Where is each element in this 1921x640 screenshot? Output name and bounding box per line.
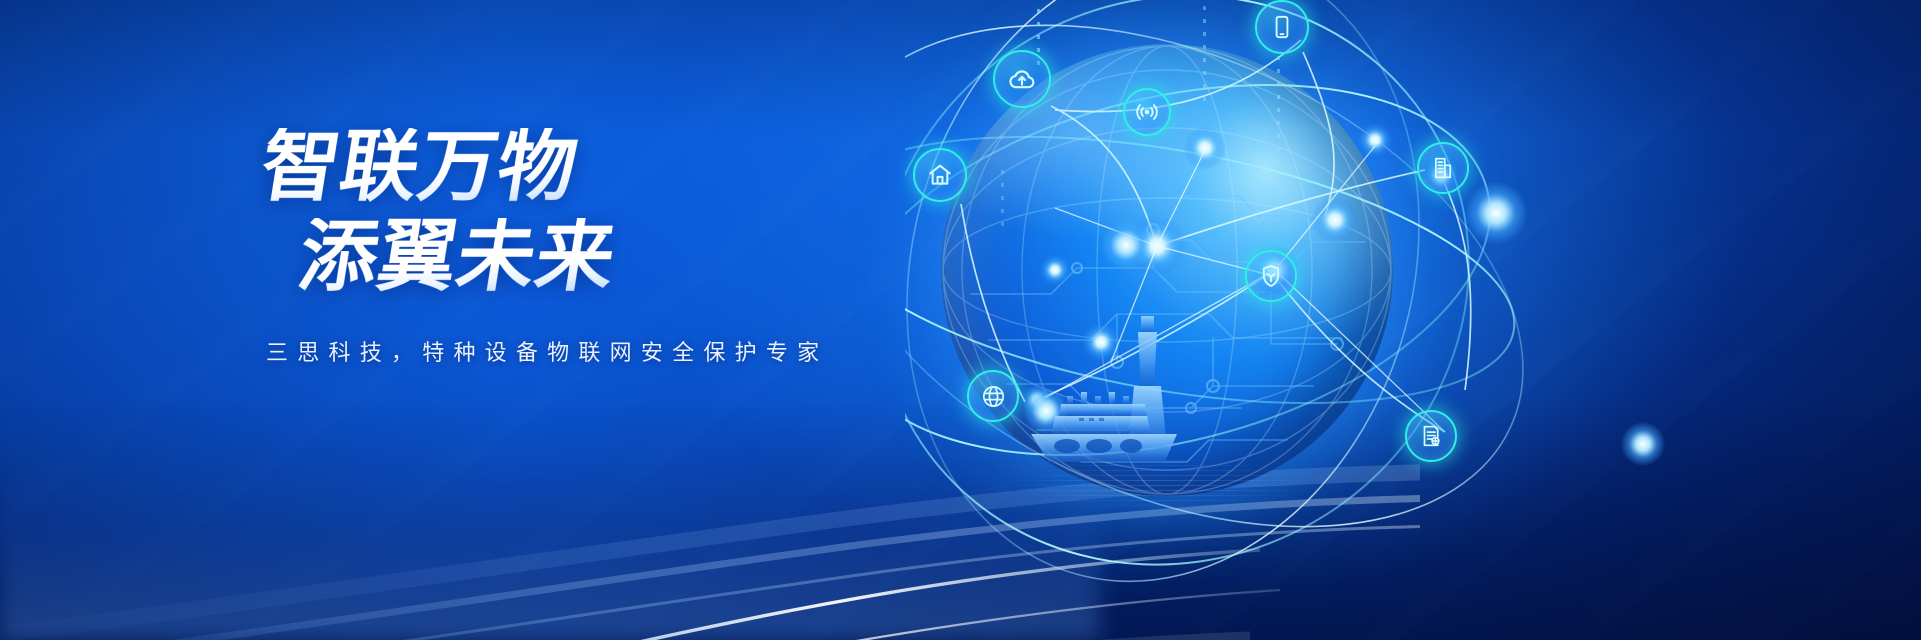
headline-line-2: 添翼未来 [294, 218, 984, 294]
spark-node-a [1465, 182, 1527, 244]
node-shield[interactable] [1245, 250, 1297, 302]
building-icon [1430, 155, 1456, 181]
globe-network-icon [980, 383, 1007, 410]
shield-icon [1258, 263, 1284, 289]
node-signal-broadcast[interactable] [1123, 88, 1171, 136]
spark-node-d [1621, 422, 1665, 466]
node-smartphone[interactable] [1255, 0, 1309, 54]
spark-node-b [1101, 220, 1151, 270]
cloud-upload-icon [1007, 64, 1037, 94]
node-building[interactable] [1417, 142, 1469, 194]
node-document-report[interactable] [1405, 410, 1457, 462]
signal-broadcast-icon [1134, 99, 1160, 125]
subtitle: 三思科技，特种设备物联网安全保护专家 [266, 335, 978, 367]
headline-line-1: 智联万物 [256, 128, 984, 204]
vessel-silhouette [1005, 300, 1245, 490]
dotted-beam-2 [1203, 6, 1206, 110]
node-cloud-upload[interactable] [993, 50, 1051, 108]
dotted-beam-3 [1277, 56, 1280, 174]
document-report-icon [1418, 423, 1444, 449]
hero-banner: 智联万物 添翼未来 三思科技，特种设备物联网安全保护专家 [0, 0, 1921, 640]
smartphone-icon [1269, 14, 1295, 40]
headline: 智联万物 添翼未来 [258, 128, 978, 295]
dotted-beam-4 [1001, 170, 1004, 230]
headline-block: 智联万物 添翼未来 三思科技，特种设备物联网安全保护专家 [258, 128, 978, 367]
